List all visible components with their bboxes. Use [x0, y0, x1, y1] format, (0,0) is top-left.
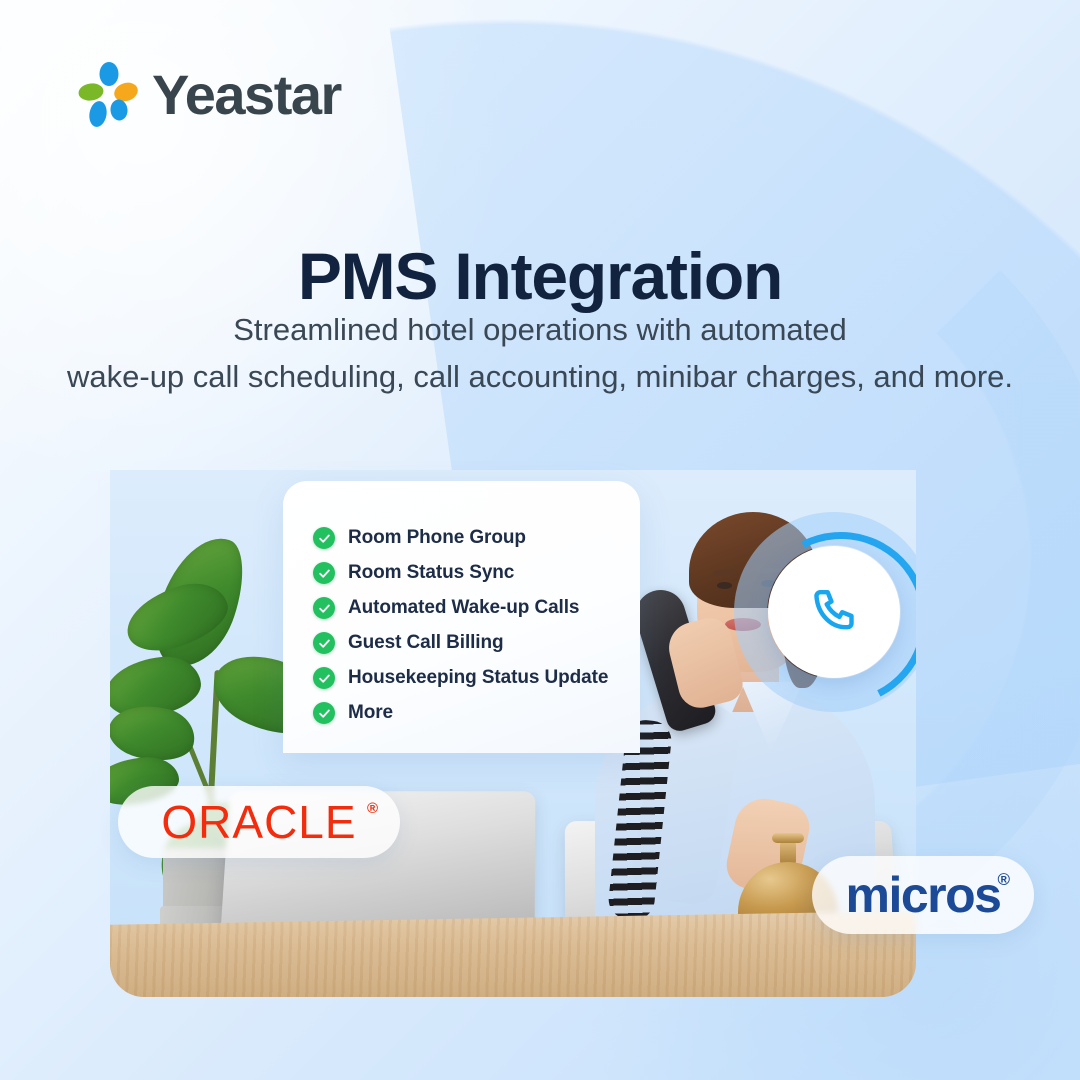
- list-item: More: [313, 702, 640, 724]
- feature-label: Guest Call Billing: [348, 632, 504, 654]
- eye-left: [717, 582, 732, 589]
- feature-label: Automated Wake-up Calls: [348, 597, 579, 619]
- check-circle-icon: [313, 632, 335, 654]
- phone-handset-icon: [806, 584, 862, 640]
- feature-list-card: Room Phone Group Room Status Sync Automa…: [283, 481, 640, 753]
- brand-logo[interactable]: Yeastar: [76, 62, 341, 128]
- oracle-logo-badge: ORACLE ®: [118, 786, 400, 858]
- check-circle-icon: [313, 597, 335, 619]
- check-circle-icon: [313, 702, 335, 724]
- oracle-wordmark: ORACLE: [161, 799, 356, 845]
- desk-wood-grain: [110, 911, 916, 997]
- micros-logo-badge: micros ®: [812, 856, 1034, 934]
- feature-label: Room Status Sync: [348, 562, 514, 584]
- micros-trademark-icon: ®: [997, 870, 1010, 890]
- subtitle-line-1: Streamlined hotel operations with automa…: [0, 306, 1080, 353]
- list-item: Room Phone Group: [313, 527, 640, 549]
- feature-label: Housekeeping Status Update: [348, 667, 608, 689]
- list-item: Guest Call Billing: [313, 632, 640, 654]
- micros-wordmark: micros: [846, 870, 1001, 920]
- list-item: Room Status Sync: [313, 562, 640, 584]
- feature-label: More: [348, 702, 393, 724]
- yeastar-petal-logo-icon: [76, 62, 138, 128]
- oracle-trademark-icon: ®: [367, 800, 378, 817]
- list-item: Automated Wake-up Calls: [313, 597, 640, 619]
- check-circle-icon: [313, 527, 335, 549]
- badge-circle: [768, 546, 900, 678]
- subtitle-line-2: wake-up call scheduling, call accounting…: [0, 353, 1080, 400]
- list-item: Housekeeping Status Update: [313, 667, 640, 689]
- feature-label: Room Phone Group: [348, 527, 526, 549]
- poster-canvas: Yeastar PMS Integration Streamlined hote…: [0, 0, 1080, 1080]
- check-circle-icon: [313, 562, 335, 584]
- check-circle-icon: [313, 667, 335, 689]
- page-subtitle: Streamlined hotel operations with automa…: [0, 306, 1080, 400]
- page-title: PMS Integration: [0, 240, 1080, 314]
- phone-badge: [734, 512, 916, 712]
- brand-wordmark: Yeastar: [152, 67, 341, 123]
